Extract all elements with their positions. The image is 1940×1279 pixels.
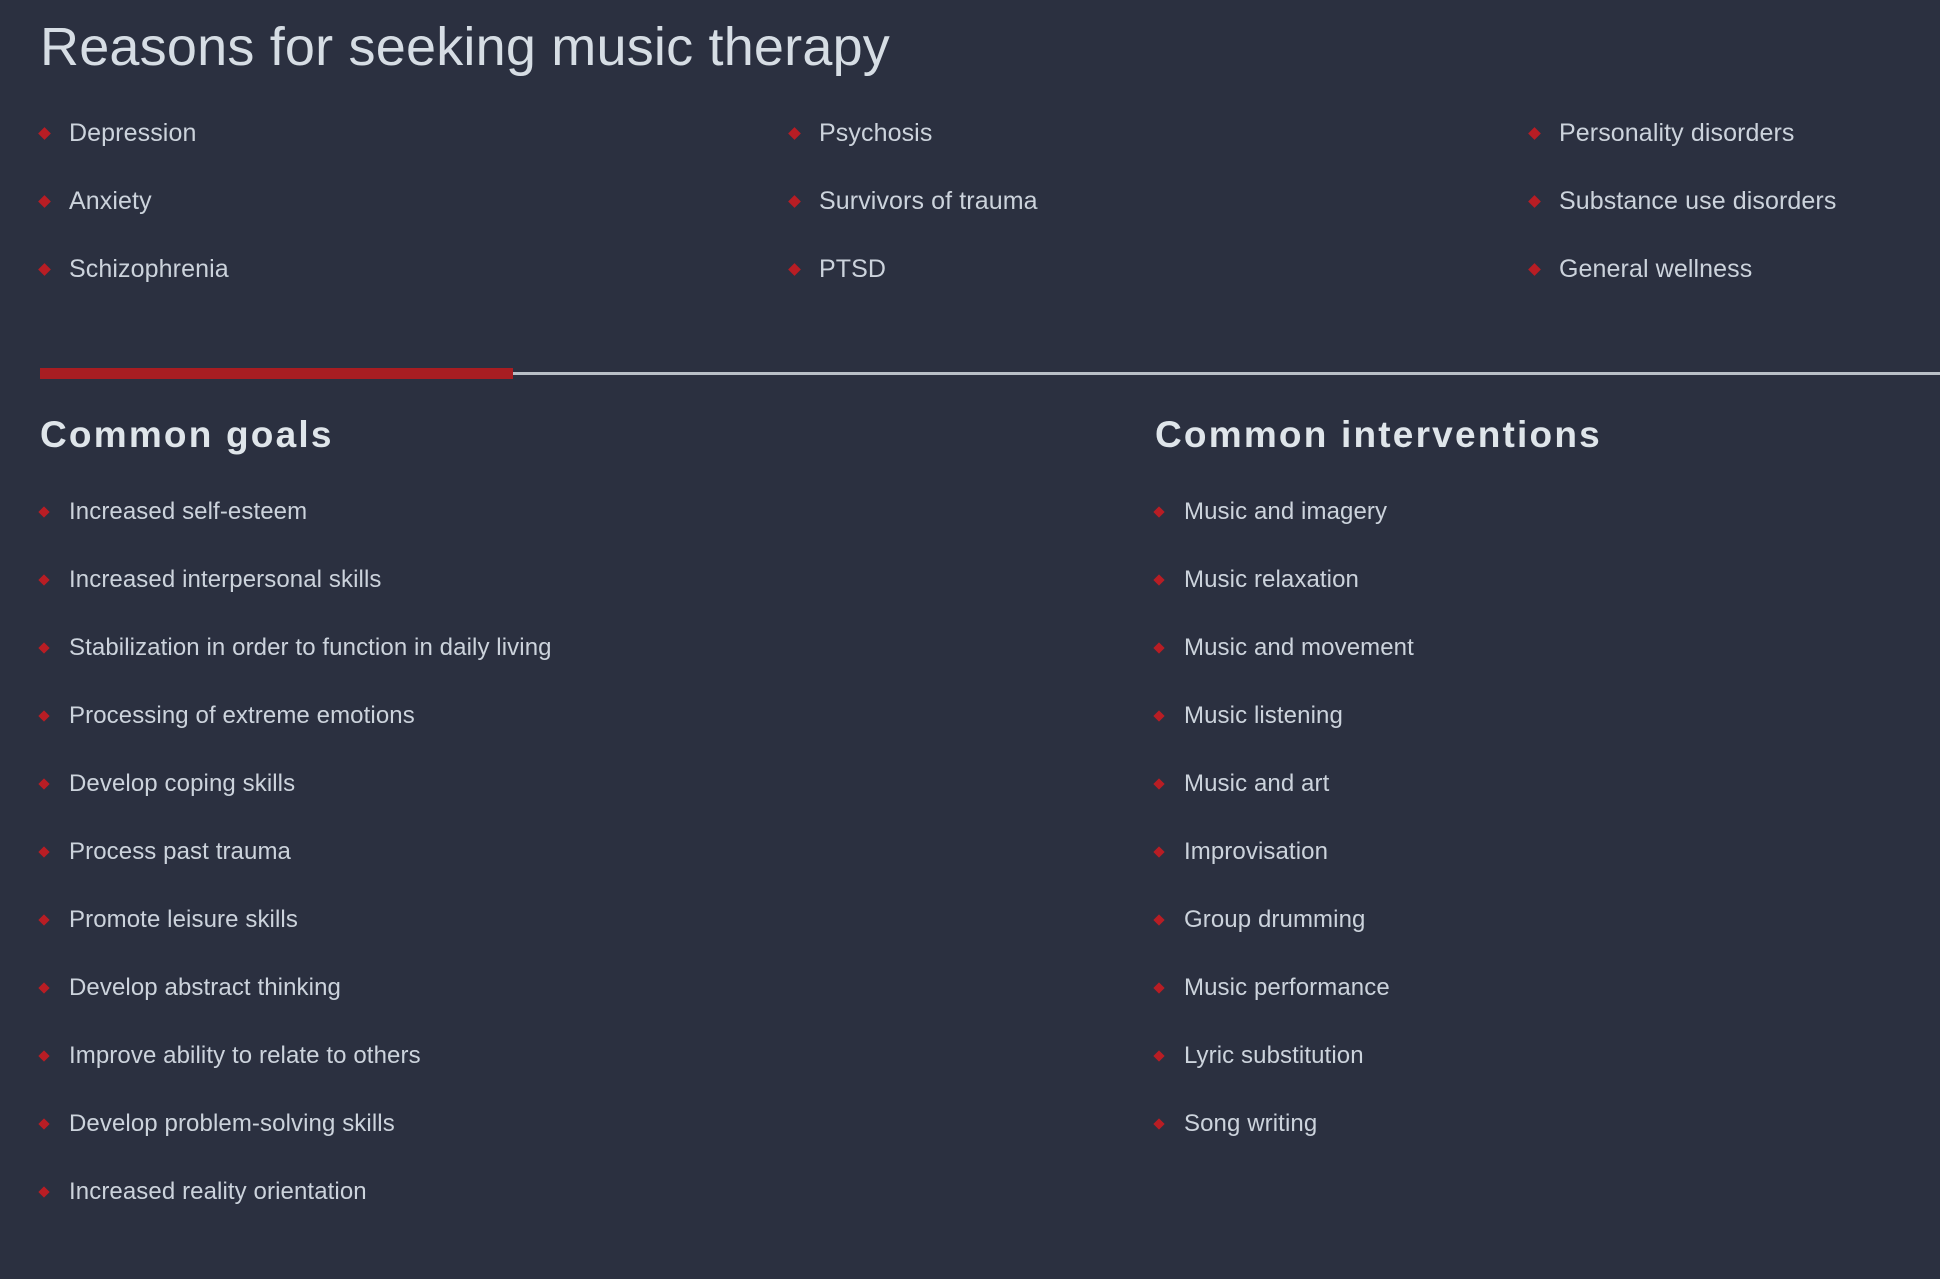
divider-red-segment xyxy=(40,368,513,379)
diamond-bullet-icon xyxy=(1153,642,1164,653)
diamond-bullet-icon xyxy=(1153,778,1164,789)
diamond-bullet-icon xyxy=(1153,506,1164,517)
list-item-label: Increased interpersonal skills xyxy=(69,568,381,592)
diamond-bullet-icon xyxy=(1153,1050,1164,1061)
diamond-bullet-icon xyxy=(1153,982,1164,993)
reasons-column-2: Psychosis Survivors of trauma PTSD xyxy=(790,99,1530,303)
list-item-label: Music performance xyxy=(1184,976,1390,1000)
list-item: Develop coping skills xyxy=(40,750,1155,818)
diamond-bullet-icon xyxy=(1153,574,1164,585)
list-item: Song writing xyxy=(1155,1090,1940,1158)
diamond-bullet-icon xyxy=(1153,846,1164,857)
section-heading: Common interventions xyxy=(1155,415,1940,456)
list-item: Survivors of trauma xyxy=(790,167,1530,235)
list-item: Develop abstract thinking xyxy=(40,954,1155,1022)
reasons-column-1: Depression Anxiety Schizophrenia xyxy=(40,99,790,303)
list-item-label: Develop problem-solving skills xyxy=(69,1112,395,1136)
reasons-grid: Depression Anxiety Schizophrenia Psychos… xyxy=(40,99,1940,303)
list-item: Psychosis xyxy=(790,99,1530,167)
list-item: Process past trauma xyxy=(40,818,1155,886)
diamond-bullet-icon xyxy=(1528,127,1541,140)
diamond-bullet-icon xyxy=(1153,914,1164,925)
list-item: Increased reality orientation xyxy=(40,1158,1155,1226)
diamond-bullet-icon xyxy=(38,263,51,276)
list-item: Music listening xyxy=(1155,682,1940,750)
list-item: Develop problem-solving skills xyxy=(40,1090,1155,1158)
list-item: Music performance xyxy=(1155,954,1940,1022)
list-item: Increased self-esteem xyxy=(40,478,1155,546)
section-heading: Common goals xyxy=(40,415,1155,456)
list-item: Schizophrenia xyxy=(40,235,790,303)
diamond-bullet-icon xyxy=(38,506,49,517)
list-item-label: Promote leisure skills xyxy=(69,908,298,932)
list-item: Promote leisure skills xyxy=(40,886,1155,954)
list-item: Lyric substitution xyxy=(1155,1022,1940,1090)
diamond-bullet-icon xyxy=(38,1118,49,1129)
list-item: Substance use disorders xyxy=(1530,167,1940,235)
list-item: Stabilization in order to function in da… xyxy=(40,614,1155,682)
diamond-bullet-icon xyxy=(38,642,49,653)
list-item: Personality disorders xyxy=(1530,99,1940,167)
diamond-bullet-icon xyxy=(38,914,49,925)
list-item-label: Process past trauma xyxy=(69,840,291,864)
list-item-label: Increased reality orientation xyxy=(69,1180,367,1204)
list-item-label: Group drumming xyxy=(1184,908,1365,932)
list-item-label: General wellness xyxy=(1559,257,1752,282)
list-item: Music relaxation xyxy=(1155,546,1940,614)
list-item-label: Survivors of trauma xyxy=(819,189,1038,214)
diamond-bullet-icon xyxy=(1153,1118,1164,1129)
diamond-bullet-icon xyxy=(38,195,51,208)
divider-thin-line xyxy=(513,372,1940,375)
list-item-label: Music and movement xyxy=(1184,636,1414,660)
list-item: General wellness xyxy=(1530,235,1940,303)
diamond-bullet-icon xyxy=(38,574,49,585)
diamond-bullet-icon xyxy=(38,846,49,857)
list-item-label: Lyric substitution xyxy=(1184,1044,1364,1068)
list-item-label: Anxiety xyxy=(69,189,152,214)
list-item: Music and art xyxy=(1155,750,1940,818)
list-item: Group drumming xyxy=(1155,886,1940,954)
list-item-label: Processing of extreme emotions xyxy=(69,704,415,728)
list-item-label: Depression xyxy=(69,121,196,146)
list-item-label: Increased self-esteem xyxy=(69,500,307,524)
list-item: Improvisation xyxy=(1155,818,1940,886)
section-common-interventions: Common interventions Music and imagery M… xyxy=(1155,415,1940,1226)
common-interventions-list: Music and imagery Music relaxation Music… xyxy=(1155,478,1940,1158)
diamond-bullet-icon xyxy=(1528,263,1541,276)
list-item-label: Substance use disorders xyxy=(1559,189,1836,214)
list-item: Increased interpersonal skills xyxy=(40,546,1155,614)
list-item-label: Develop abstract thinking xyxy=(69,976,341,1000)
list-item: PTSD xyxy=(790,235,1530,303)
list-item: Anxiety xyxy=(40,167,790,235)
diamond-bullet-icon xyxy=(1153,710,1164,721)
list-item: Music and movement xyxy=(1155,614,1940,682)
list-item-label: Music and imagery xyxy=(1184,500,1387,524)
diamond-bullet-icon xyxy=(38,982,49,993)
section-divider xyxy=(40,368,1940,379)
reasons-column-3: Personality disorders Substance use diso… xyxy=(1530,99,1940,303)
diamond-bullet-icon xyxy=(788,195,801,208)
common-goals-list: Increased self-esteem Increased interper… xyxy=(40,478,1155,1226)
sections-grid: Common goals Increased self-esteem Incre… xyxy=(40,415,1940,1226)
list-item-label: Personality disorders xyxy=(1559,121,1795,146)
list-item: Processing of extreme emotions xyxy=(40,682,1155,750)
diamond-bullet-icon xyxy=(38,127,51,140)
diamond-bullet-icon xyxy=(38,1186,49,1197)
page-title: Reasons for seeking music therapy xyxy=(40,0,1940,77)
diamond-bullet-icon xyxy=(788,127,801,140)
list-item: Music and imagery xyxy=(1155,478,1940,546)
list-item: Depression xyxy=(40,99,790,167)
list-item-label: Psychosis xyxy=(819,121,932,146)
list-item-label: Stabilization in order to function in da… xyxy=(69,636,552,660)
diamond-bullet-icon xyxy=(38,710,49,721)
list-item-label: Music relaxation xyxy=(1184,568,1359,592)
list-item-label: Music and art xyxy=(1184,772,1329,796)
list-item-label: PTSD xyxy=(819,257,886,282)
section-common-goals: Common goals Increased self-esteem Incre… xyxy=(40,415,1155,1226)
diamond-bullet-icon xyxy=(38,778,49,789)
list-item-label: Song writing xyxy=(1184,1112,1317,1136)
list-item-label: Improve ability to relate to others xyxy=(69,1044,421,1068)
diamond-bullet-icon xyxy=(788,263,801,276)
list-item-label: Music listening xyxy=(1184,704,1343,728)
list-item-label: Schizophrenia xyxy=(69,257,229,282)
list-item: Improve ability to relate to others xyxy=(40,1022,1155,1090)
slide-root: Reasons for seeking music therapy Depres… xyxy=(0,0,1940,1279)
list-item-label: Develop coping skills xyxy=(69,772,295,796)
diamond-bullet-icon xyxy=(38,1050,49,1061)
diamond-bullet-icon xyxy=(1528,195,1541,208)
list-item-label: Improvisation xyxy=(1184,840,1328,864)
